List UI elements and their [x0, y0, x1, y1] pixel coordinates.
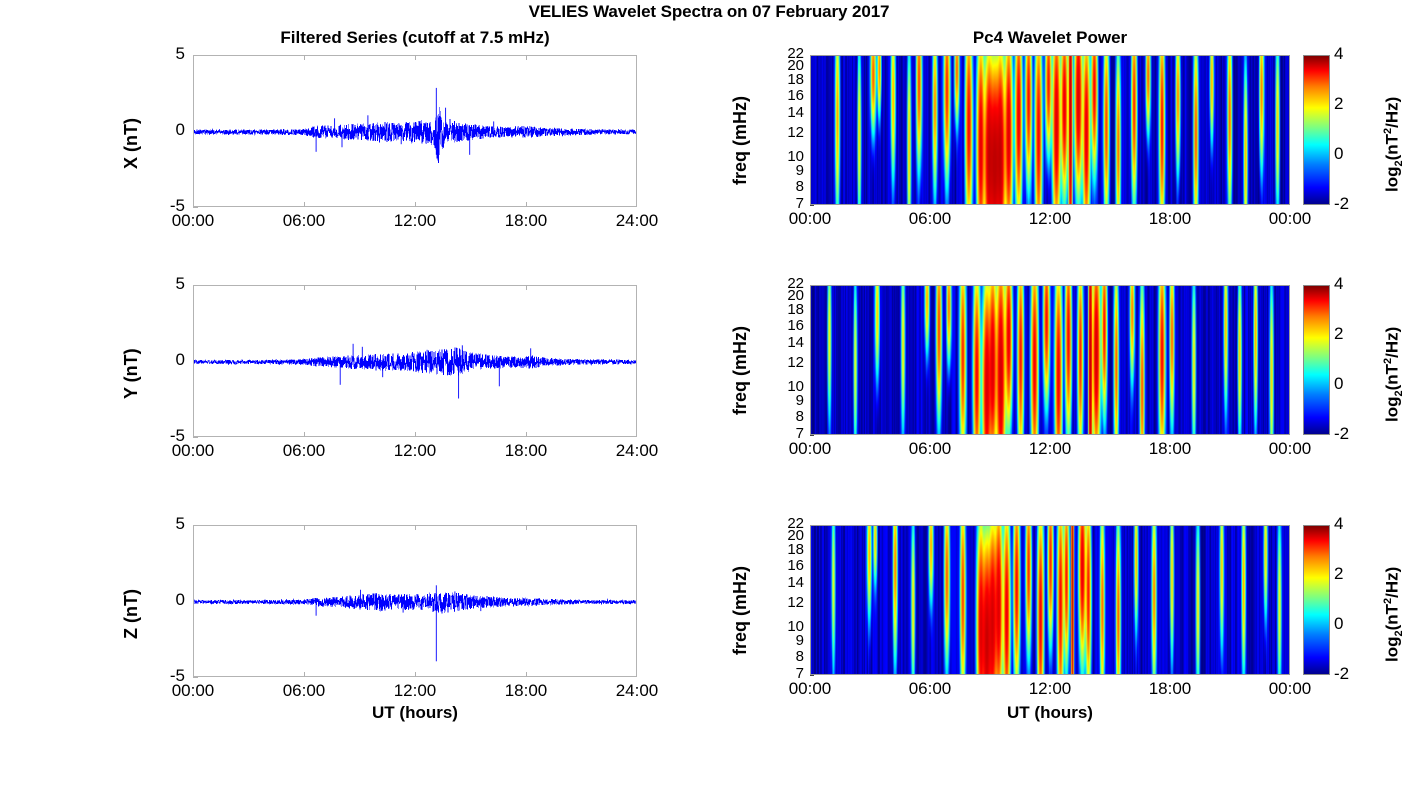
spectrogram-xtick: 00:00 — [770, 679, 850, 699]
spectrogram-ytick: 12 — [766, 124, 804, 141]
right-column-title: Pc4 Wavelet Power — [810, 28, 1290, 48]
timeseries-xtick-mark — [415, 672, 416, 677]
timeseries-ytick: 0 — [143, 120, 185, 140]
timeseries-panel-y — [193, 285, 637, 437]
spectrogram-xtick: 18:00 — [1130, 439, 1210, 459]
spectrogram-xtick: 06:00 — [890, 209, 970, 229]
timeseries-xtick-mark — [415, 202, 416, 207]
timeseries-xtick-mark — [526, 672, 527, 677]
colorbar-label-x: log2(nT2/Hz) — [1382, 97, 1405, 192]
timeseries-xtick: 06:00 — [264, 441, 344, 461]
spectrogram-ytick: 8 — [766, 408, 804, 425]
spectrogram-xtick: 18:00 — [1130, 679, 1210, 699]
colorbar-label-z: log2(nT2/Hz) — [1382, 567, 1405, 662]
timeseries-xtick: 12:00 — [375, 441, 455, 461]
colorbar-x — [1303, 55, 1330, 205]
left-xaxis-label: UT (hours) — [193, 703, 637, 723]
timeseries-xtick-mark — [304, 432, 305, 437]
timeseries-panel-x — [193, 55, 637, 207]
colorbar-tick: 2 — [1334, 324, 1364, 344]
spectrogram-xtick: 00:00 — [1250, 439, 1330, 459]
timeseries-xtick-mark — [526, 55, 527, 60]
timeseries-ylabel-x: X (nT) — [121, 118, 142, 169]
colorbar-tick: 0 — [1334, 144, 1364, 164]
figure-title: VELIES Wavelet Spectra on 07 February 20… — [0, 2, 1418, 22]
spectrogram-xtick: 00:00 — [1250, 209, 1330, 229]
timeseries-xtick-mark — [526, 202, 527, 207]
timeseries-xtick: 00:00 — [153, 681, 233, 701]
spectrogram-xtick: 00:00 — [1250, 679, 1330, 699]
spectrogram-ytick: 12 — [766, 354, 804, 371]
timeseries-ytick-mark — [193, 437, 198, 438]
spectrogram-xtick: 06:00 — [890, 439, 970, 459]
timeseries-xtick: 12:00 — [375, 211, 455, 231]
timeseries-xtick-mark — [304, 55, 305, 60]
timeseries-xtick-mark — [304, 672, 305, 677]
timeseries-xtick: 06:00 — [264, 211, 344, 231]
timeseries-xtick: 00:00 — [153, 441, 233, 461]
spectrogram-ytick: 8 — [766, 178, 804, 195]
spectrogram-xtick: 00:00 — [770, 439, 850, 459]
timeseries-ytick-mark — [193, 677, 198, 678]
timeseries-ylabel-z: Z (nT) — [121, 589, 142, 639]
spectrogram-ytick: 12 — [766, 594, 804, 611]
timeseries-xtick-mark — [415, 285, 416, 290]
spectrogram-xtick: 12:00 — [1010, 209, 1090, 229]
colorbar-tick: 2 — [1334, 564, 1364, 584]
spectrogram-image — [811, 286, 1289, 434]
spectrogram-ytick: 16 — [766, 317, 804, 334]
spectrogram-ytick-mark — [810, 675, 814, 676]
spectrogram-ytick: 16 — [766, 557, 804, 574]
spectrogram-ytick: 14 — [766, 574, 804, 591]
colorbar-y — [1303, 285, 1330, 435]
timeseries-xtick-mark — [526, 525, 527, 530]
spectrogram-ylabel-x: freq (mHz) — [730, 96, 751, 185]
timeseries-xtick-mark — [526, 432, 527, 437]
colorbar-tick: -2 — [1334, 194, 1364, 214]
timeseries-xtick: 00:00 — [153, 211, 233, 231]
spectrogram-image — [811, 526, 1289, 674]
colorbar-tick: 4 — [1334, 44, 1364, 64]
spectrogram-ylabel-z: freq (mHz) — [730, 566, 751, 655]
colorbar-tick: 0 — [1334, 614, 1364, 634]
spectrogram-xtick: 06:00 — [890, 679, 970, 699]
timeseries-xtick-mark — [526, 285, 527, 290]
spectrogram-panel-x — [810, 55, 1290, 205]
spectrogram-xtick: 12:00 — [1010, 679, 1090, 699]
spectrogram-ytick: 14 — [766, 334, 804, 351]
spectrogram-ytick: 14 — [766, 104, 804, 121]
colorbar-tick: 4 — [1334, 514, 1364, 534]
timeseries-xtick: 24:00 — [597, 211, 677, 231]
spectrogram-ytick-mark — [810, 205, 814, 206]
timeseries-xtick-mark — [304, 285, 305, 290]
timeseries-xtick: 24:00 — [597, 441, 677, 461]
figure-canvas: VELIES Wavelet Spectra on 07 February 20… — [0, 0, 1418, 788]
timeseries-xtick: 18:00 — [486, 681, 566, 701]
colorbar-tick: 0 — [1334, 374, 1364, 394]
timeseries-ytick: 5 — [143, 274, 185, 294]
right-xaxis-label: UT (hours) — [810, 703, 1290, 723]
timeseries-xtick: 18:00 — [486, 211, 566, 231]
timeseries-xtick-mark — [415, 525, 416, 530]
spectrogram-xtick: 00:00 — [770, 209, 850, 229]
colorbar-tick: -2 — [1334, 664, 1364, 684]
colorbar-z — [1303, 525, 1330, 675]
spectrogram-ylabel-y: freq (mHz) — [730, 326, 751, 415]
colorbar-tick: -2 — [1334, 424, 1364, 444]
colorbar-tick: 4 — [1334, 274, 1364, 294]
timeseries-ytick-mark — [193, 207, 198, 208]
spectrogram-ytick: 16 — [766, 87, 804, 104]
timeseries-xtick-mark — [415, 55, 416, 60]
timeseries-ytick: 0 — [143, 590, 185, 610]
timeseries-xtick-mark — [415, 432, 416, 437]
timeseries-xtick-mark — [304, 525, 305, 530]
timeseries-ytick: 5 — [143, 514, 185, 534]
timeseries-xtick: 12:00 — [375, 681, 455, 701]
spectrogram-ytick: 8 — [766, 648, 804, 665]
colorbar-label-y: log2(nT2/Hz) — [1382, 327, 1405, 422]
timeseries-xtick: 06:00 — [264, 681, 344, 701]
timeseries-panel-z — [193, 525, 637, 677]
colorbar-tick: 2 — [1334, 94, 1364, 114]
left-column-title: Filtered Series (cutoff at 7.5 mHz) — [193, 28, 637, 48]
spectrogram-panel-y — [810, 285, 1290, 435]
timeseries-xtick: 18:00 — [486, 441, 566, 461]
spectrogram-xtick: 12:00 — [1010, 439, 1090, 459]
spectrogram-xtick: 18:00 — [1130, 209, 1210, 229]
timeseries-ytick: 5 — [143, 44, 185, 64]
timeseries-ylabel-y: Y (nT) — [121, 348, 142, 399]
timeseries-ytick: 0 — [143, 350, 185, 370]
spectrogram-panel-z — [810, 525, 1290, 675]
spectrogram-ytick-mark — [810, 435, 814, 436]
timeseries-xtick-mark — [304, 202, 305, 207]
spectrogram-image — [811, 56, 1289, 204]
timeseries-xtick: 24:00 — [597, 681, 677, 701]
